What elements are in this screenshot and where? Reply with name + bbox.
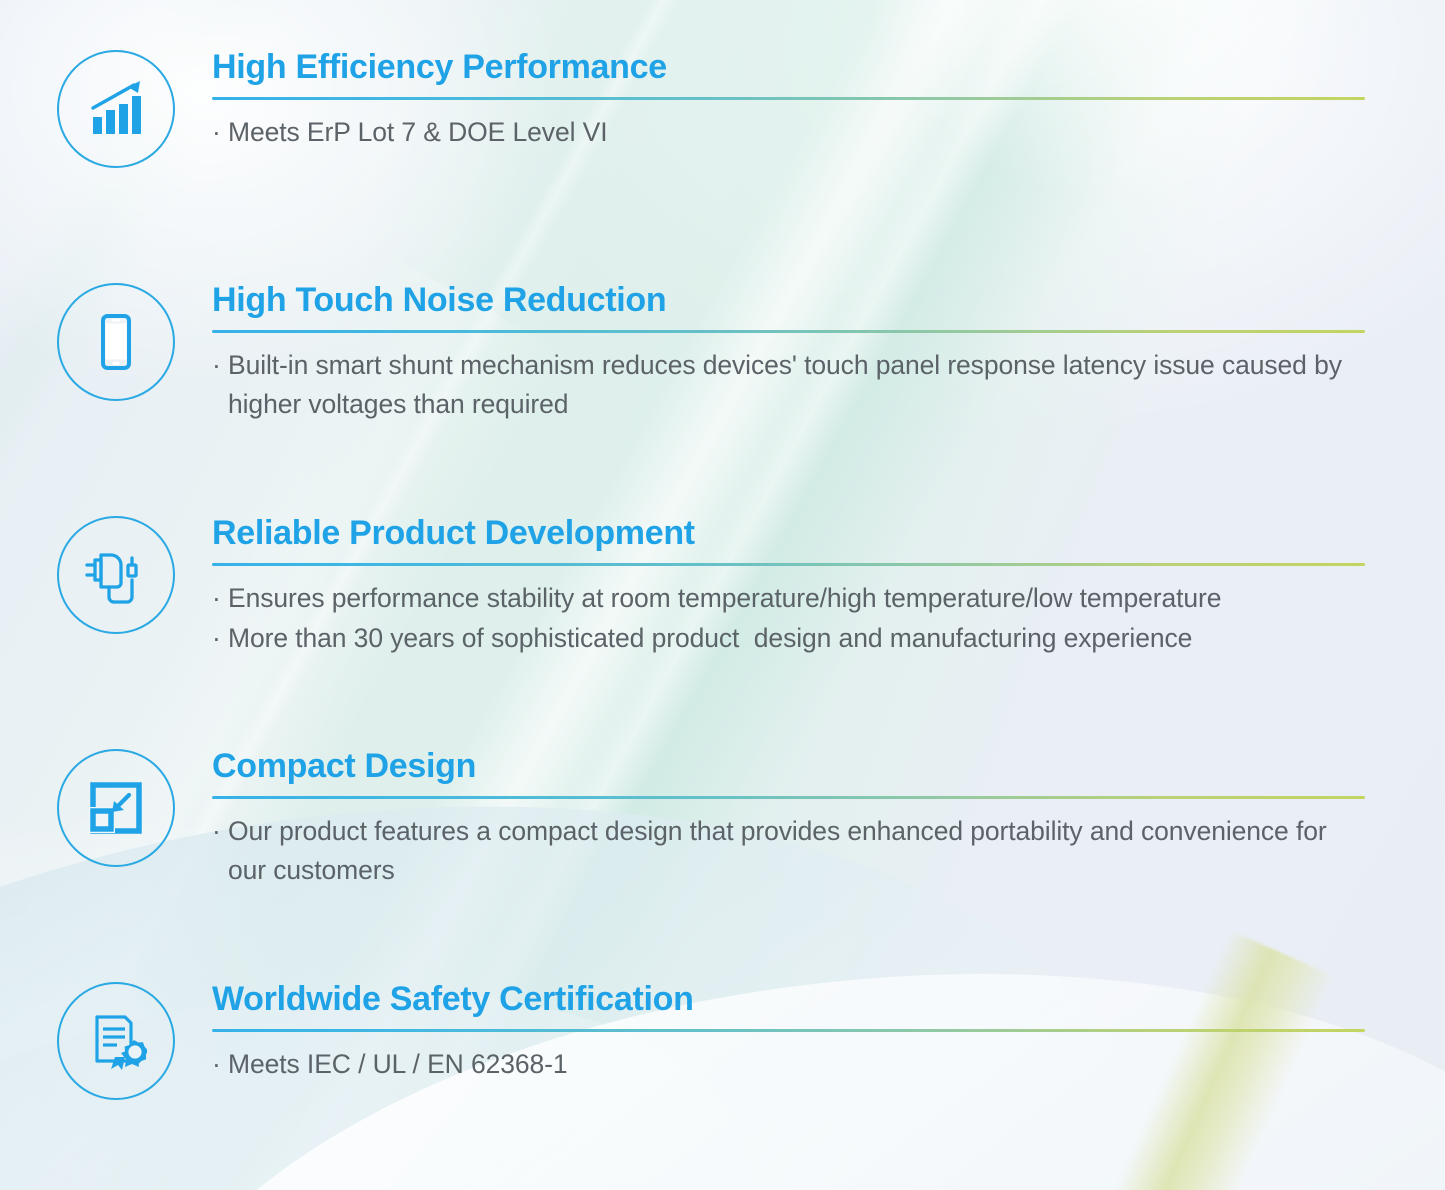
certificate-award-icon xyxy=(57,982,175,1100)
feature-bullet-list: · Meets IEC / UL / EN 62368-1 xyxy=(212,1045,1367,1084)
feature-icon-wrapper xyxy=(52,747,180,867)
feature-item-reliable-product-development: Reliable Product Development · Ensures p… xyxy=(0,514,1445,659)
feature-bullet: · Meets ErP Lot 7 & DOE Level VI xyxy=(212,113,1367,152)
feature-bullet-list: · Built-in smart shunt mechanism reduces… xyxy=(212,346,1367,424)
feature-bullet: · Meets IEC / UL / EN 62368-1 xyxy=(212,1045,1367,1084)
feature-title: High Efficiency Performance xyxy=(212,48,1367,86)
bullet-dot-icon: · xyxy=(212,113,228,152)
feature-bullet-list: · Our product features a compact design … xyxy=(212,812,1367,890)
feature-title: Reliable Product Development xyxy=(212,514,1367,552)
feature-title: Compact Design xyxy=(212,747,1367,785)
bullet-dot-icon: · xyxy=(212,812,228,890)
feature-divider-rule xyxy=(212,796,1365,799)
feature-text-block: High Touch Noise Reduction · Built-in sm… xyxy=(212,281,1367,425)
feature-icon-wrapper xyxy=(52,48,180,168)
feature-title: Worldwide Safety Certification xyxy=(212,980,1367,1018)
feature-title: High Touch Noise Reduction xyxy=(212,281,1367,319)
bullet-dot-icon: · xyxy=(212,346,228,424)
feature-divider-rule xyxy=(212,1029,1365,1032)
feature-item-worldwide-safety-certification: Worldwide Safety Certification · Meets I… xyxy=(0,980,1445,1100)
feature-divider-rule xyxy=(212,97,1365,100)
bullet-dot-icon: · xyxy=(212,1045,228,1084)
feature-item-high-efficiency-performance: High Efficiency Performance · Meets ErP … xyxy=(0,48,1445,168)
feature-bullet: · More than 30 years of sophisticated pr… xyxy=(212,619,1367,658)
feature-divider-rule xyxy=(212,330,1365,333)
bar-chart-growth-icon xyxy=(57,50,175,168)
feature-item-high-touch-noise-reduction: High Touch Noise Reduction · Built-in sm… xyxy=(0,281,1445,425)
feature-bullet-list: · Meets ErP Lot 7 & DOE Level VI xyxy=(212,113,1367,152)
feature-bullet-text: Our product features a compact design th… xyxy=(228,812,1367,890)
power-adapter-icon xyxy=(57,516,175,634)
feature-bullet-text: Meets IEC / UL / EN 62368-1 xyxy=(228,1045,1367,1084)
bullet-dot-icon: · xyxy=(212,619,228,658)
bullet-dot-icon: · xyxy=(212,579,228,618)
feature-text-block: Compact Design · Our product features a … xyxy=(212,747,1367,891)
compact-resize-icon xyxy=(57,749,175,867)
feature-bullet-list: · Ensures performance stability at room … xyxy=(212,579,1367,658)
feature-bullet-text: More than 30 years of sophisticated prod… xyxy=(228,619,1367,658)
feature-highlights-page: High Efficiency Performance · Meets ErP … xyxy=(0,0,1445,1190)
feature-divider-rule xyxy=(212,563,1365,566)
feature-bullet-text: Built-in smart shunt mechanism reduces d… xyxy=(228,346,1367,424)
feature-icon-wrapper xyxy=(52,514,180,634)
feature-bullet-text: Ensures performance stability at room te… xyxy=(228,579,1367,618)
smartphone-icon xyxy=(57,283,175,401)
feature-text-block: Worldwide Safety Certification · Meets I… xyxy=(212,980,1367,1084)
feature-text-block: Reliable Product Development · Ensures p… xyxy=(212,514,1367,659)
feature-bullet-text: Meets ErP Lot 7 & DOE Level VI xyxy=(228,113,1367,152)
feature-bullet: · Our product features a compact design … xyxy=(212,812,1367,890)
feature-item-compact-design: Compact Design · Our product features a … xyxy=(0,747,1445,891)
feature-bullet: · Ensures performance stability at room … xyxy=(212,579,1367,618)
feature-text-block: High Efficiency Performance · Meets ErP … xyxy=(212,48,1367,152)
feature-icon-wrapper xyxy=(52,281,180,401)
feature-bullet: · Built-in smart shunt mechanism reduces… xyxy=(212,346,1367,424)
feature-icon-wrapper xyxy=(52,980,180,1100)
